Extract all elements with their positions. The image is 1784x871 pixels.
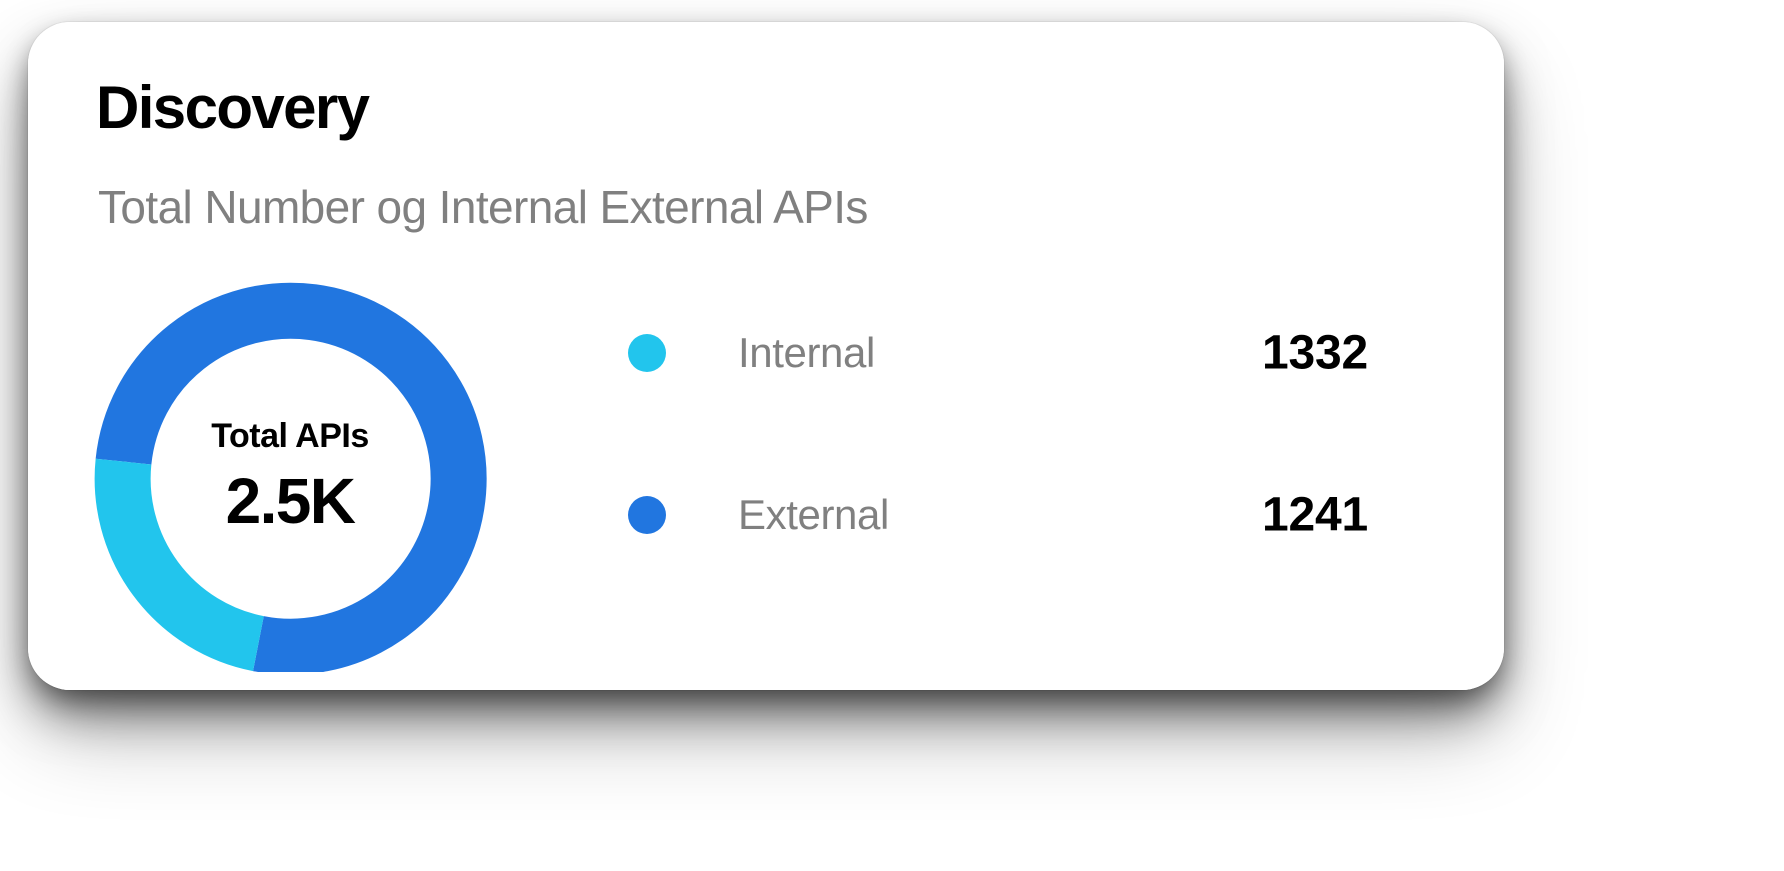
discovery-card: Discovery Total Number og Internal Exter… [28,22,1504,690]
legend-value-external: 1241 [1262,488,1368,543]
page-subtitle: Total Number og Internal External APIs [98,182,868,234]
legend-label-internal: Internal [738,329,875,377]
page-title: Discovery [96,76,368,139]
donut-segment-internal [123,462,259,644]
donut-chart-svg [90,280,490,672]
legend-item-internal[interactable]: Internal 1332 [628,322,1368,384]
screenshot-root: Discovery Total Number og Internal Exter… [0,0,1784,871]
chart-legend: Internal 1332 External 1241 [628,322,1368,546]
external-legend-dot-icon [628,496,666,534]
donut-chart[interactable]: Total APIs 2.5K [90,280,490,672]
internal-legend-dot-icon [628,334,666,372]
legend-item-external[interactable]: External 1241 [628,484,1368,546]
legend-label-external: External [738,491,889,539]
legend-value-internal: 1332 [1262,326,1368,381]
